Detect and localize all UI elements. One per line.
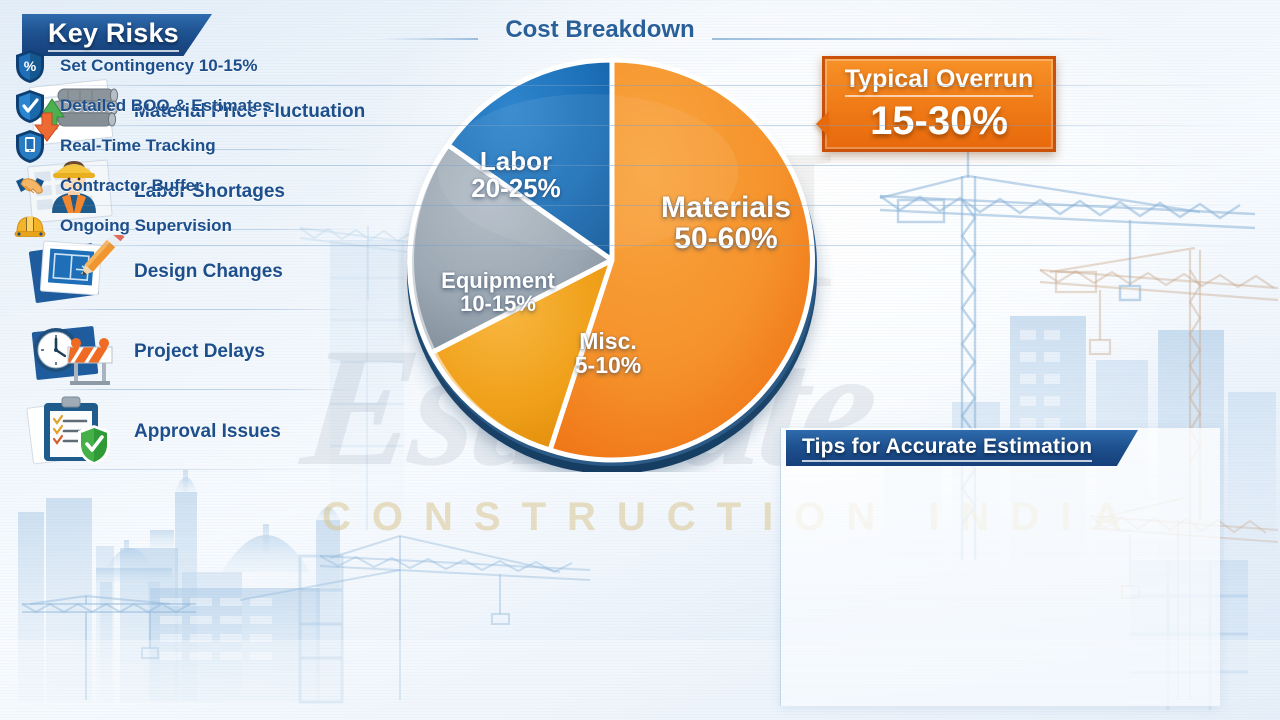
hard-hat-icon [14, 209, 60, 243]
infographic-canvas: CEI Estimate CONSTRUCTION INDIA Key Risk… [0, 0, 1280, 720]
handshake-icon [14, 169, 60, 203]
risk-label: Approval Issues [130, 421, 281, 442]
tips-panel [780, 428, 1220, 706]
check-shield-icon [14, 89, 60, 123]
svg-text:%: % [24, 58, 37, 74]
mobile-shield-icon [14, 129, 60, 163]
tips-title: Tips for Accurate Estimation [802, 435, 1092, 462]
tip-label: Ongoing Supervision [60, 216, 232, 236]
tips-banner: Tips for Accurate Estimation [786, 430, 1138, 466]
risk-item-project-delays[interactable]: Project Delays [18, 312, 368, 392]
clipboard-shield-check-icon [18, 395, 130, 469]
tip-item-supervision[interactable]: Ongoing Supervision [14, 206, 1270, 246]
percent-shield-icon: % [14, 49, 60, 83]
risk-label: Project Delays [130, 341, 265, 362]
risk-item-approval-issues[interactable]: Approval Issues [18, 392, 368, 472]
clock-barrier-icon [18, 315, 130, 389]
tip-label: Set Contingency 10-15% [60, 56, 257, 76]
risk-label: Design Changes [130, 261, 283, 282]
tip-item-boq[interactable]: Detailed BOQ & Estimates [14, 86, 1270, 126]
tips-list: % Set Contingency 10-15% Detailed BOQ & … [14, 46, 1270, 246]
tip-item-contingency[interactable]: % Set Contingency 10-15% [14, 46, 1270, 86]
tip-item-contractor-buffer[interactable]: Contractor Buffer [14, 166, 1270, 206]
tip-label: Contractor Buffer [60, 176, 202, 196]
tip-label: Detailed BOQ & Estimates [60, 96, 272, 116]
chart-title: Cost Breakdown [380, 16, 820, 44]
tip-item-tracking[interactable]: Real-Time Tracking [14, 126, 1270, 166]
tip-label: Real-Time Tracking [60, 136, 216, 156]
blueprint-pencil-icon [18, 235, 130, 309]
